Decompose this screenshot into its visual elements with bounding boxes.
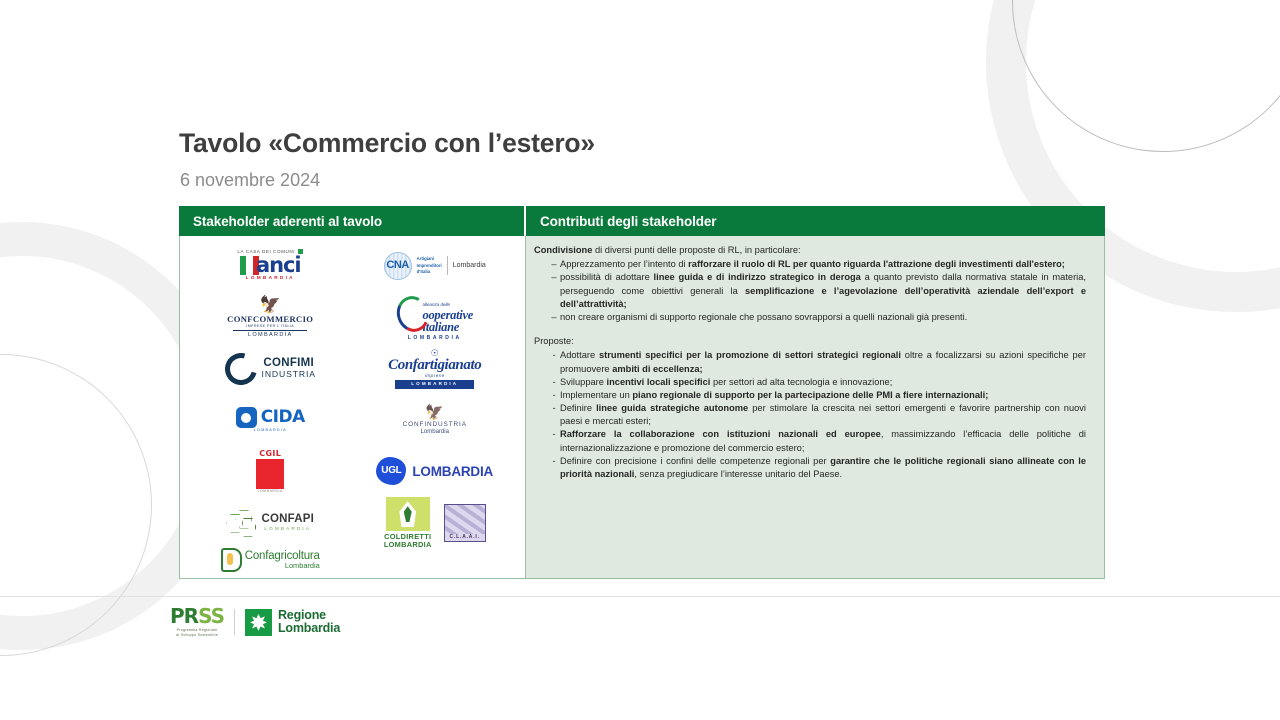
stakeholder-table: Stakeholder aderenti al tavolo Contribut… <box>179 206 1105 579</box>
confcommercio-region-label: LOMBARDIA <box>248 333 293 339</box>
confartigianato-region-label: LOMBARDIA <box>395 380 474 389</box>
logo-grid: LA CASA DEI COMUNI anci LOMBARDIA CNA Ar… <box>180 236 525 578</box>
confapi-lombardia-logo: CONFAPI LOMBARDIA <box>226 512 314 534</box>
table-header-row: Stakeholder aderenti al tavolo Contribut… <box>179 206 1105 236</box>
confimi-industria-logo: CONFIMI INDUSTRIA <box>225 353 316 385</box>
prss-wordmark-b: SS <box>198 606 224 626</box>
table-header-contributions: Contributi degli stakeholder <box>526 206 1105 236</box>
decorative-arc-thin-top-right <box>1012 0 1280 152</box>
coldiretti-region-label: LOMBARDIA <box>384 541 432 548</box>
list-item-text: Adottare strumenti specifici per la prom… <box>560 349 1092 375</box>
cgil-wordmark: CGIL <box>259 450 281 458</box>
footer-logo-divider <box>234 609 235 635</box>
list-bullet-dash: - <box>532 428 560 454</box>
list-item-text: Definire con precisione i confini delle … <box>560 455 1092 481</box>
contributions-text: Condivisione di diversi punti delle prop… <box>532 244 1092 481</box>
ugl-region-label: LOMBARDIA <box>412 465 493 479</box>
regione-label-line2: Lombardia <box>278 622 340 636</box>
alleanza-cooperative-italiane-logo: alleanza delle ooperative italiane LOMBA… <box>397 294 473 341</box>
list-item-text: Implementare un piano regionale di suppo… <box>560 389 1092 402</box>
cida-region-label: LOMBARDIA <box>254 429 287 433</box>
contribution-list-item: –Apprezzamento per l’intento di rafforza… <box>532 258 1092 271</box>
page-subtitle-date: 6 novembre 2024 <box>180 170 320 191</box>
regione-lombardia-logo: Regione Lombardia <box>245 609 340 636</box>
ugl-lombardia-logo: UGL LOMBARDIA <box>376 457 493 485</box>
contribution-list-item: -Implementare un piano regionale di supp… <box>532 389 1092 402</box>
prss-subtitle-line1: Programma Regionale <box>177 628 218 632</box>
confindustria-lombardia-logo: 🦅 CONFINDUSTRIA Lombardia <box>403 405 467 435</box>
confcommercio-wordmark: CONFCOMMERCIO <box>227 315 313 324</box>
c-shape-icon <box>219 347 263 391</box>
coop-word-2: italiane <box>423 322 473 334</box>
cgil-region-label: LOMBARDIA <box>258 490 283 493</box>
confapi-wordmark: CONFAPI <box>261 514 314 526</box>
list-bullet-dash: - <box>532 349 560 375</box>
anci-lombardia-logo: LA CASA DEI COMUNI anci LOMBARDIA <box>237 249 303 282</box>
contribution-list-item: -Rafforzare la collaborazione con istitu… <box>532 428 1092 454</box>
confindustria-wordmark: CONFINDUSTRIA <box>403 422 467 428</box>
rosa-camuna-icon <box>250 614 267 631</box>
confartigianato-imprese-logo: ☉ Confartigianato imprese LOMBARDIA <box>388 349 481 389</box>
list-item-text: Apprezzamento per l’intento di rafforzar… <box>560 258 1092 271</box>
confapi-region-label: LOMBARDIA <box>261 527 314 532</box>
hexagons-icon <box>226 512 256 534</box>
list-item-text: Sviluppare incentivi locali specifici pe… <box>560 376 1092 389</box>
list-item-text: possibilità di adottare linee guida e di… <box>560 271 1092 311</box>
list-bullet-dash: – <box>532 311 560 324</box>
contribution-list-item: -Sviluppare incentivi locali specifici p… <box>532 376 1092 389</box>
list-item-text: non creare organismi di supporto regiona… <box>560 311 1092 324</box>
list-bullet-dash: – <box>532 271 560 311</box>
regione-lombardia-mark <box>245 609 272 636</box>
confagricoltura-lombardia-logo: Confagricoltura Lombardia <box>221 548 320 572</box>
anci-region-label: LOMBARDIA <box>246 277 295 282</box>
confimi-subword: INDUSTRIA <box>262 369 316 379</box>
cna-tagline: ArtigianiImprenditorid'Italia <box>417 256 442 275</box>
list-bullet-dash: - <box>532 402 560 428</box>
list-bullet-dash: – <box>532 258 560 271</box>
list-bullet-dash: - <box>532 455 560 481</box>
contribution-list-item: -Definire linee guida strategiche autono… <box>532 402 1092 428</box>
prss-logo: PRSS Programma Regionale di Sviluppo Sos… <box>170 606 224 639</box>
cna-wordmark: CNA <box>386 260 409 271</box>
contributions-cell: Condivisione di diversi punti delle prop… <box>526 236 1104 578</box>
anci-wordmark: anci <box>256 255 300 276</box>
list-item-text: Rafforzare la collaborazione con istituz… <box>560 428 1092 454</box>
table-body-row: LA CASA DEI COMUNI anci LOMBARDIA CNA Ar… <box>179 236 1105 579</box>
cida-wordmark: CIDA <box>261 409 305 426</box>
contribution-list-item: -Definire con precisione i confini delle… <box>532 455 1092 481</box>
claai-wordmark: C.L.A.A.I. <box>445 534 485 541</box>
table-header-stakeholders: Stakeholder aderenti al tavolo <box>179 206 526 236</box>
coldiretti-and-claai-logos: COLDIRETTI LOMBARDIA C.L.A.A.I. <box>384 497 486 548</box>
confindustria-region-label: Lombardia <box>421 429 449 435</box>
list-bullet-dash: - <box>532 376 560 389</box>
coldiretti-leaf-icon <box>386 497 430 531</box>
globe-icon: CNA <box>384 252 412 280</box>
prss-wordmark-a: PR <box>170 606 198 626</box>
slide-canvas: Tavolo «Commercio con l’estero» 6 novemb… <box>0 0 1280 720</box>
list-bullet-dash: - <box>532 389 560 402</box>
divider <box>233 330 307 331</box>
confartigianato-subword: imprese <box>425 374 445 378</box>
gear-icon <box>236 407 257 428</box>
confartigianato-wordmark: Confartigianato <box>388 358 481 373</box>
page-title: Tavolo «Commercio con l’estero» <box>179 128 595 159</box>
coldiretti-lombardia-logo: COLDIRETTI LOMBARDIA <box>384 497 432 548</box>
cna-divider <box>447 256 448 275</box>
paragraph-spacer <box>532 324 1092 335</box>
list-item-text: Definire linee guida strategiche autonom… <box>560 402 1092 428</box>
contribution-list-item: –possibilità di adottare linee guida e d… <box>532 271 1092 311</box>
confimi-wordmark: CONFIMI <box>262 358 316 370</box>
cna-region-label: Lombardia <box>453 262 486 269</box>
contribution-lead: Condivisione di diversi punti delle prop… <box>534 244 1092 257</box>
ugl-blob-icon: UGL <box>376 457 406 485</box>
cgil-lombardia-logo: CGIL LOMBARDIA <box>256 450 284 494</box>
contribution-lead: Proposte: <box>534 335 1092 348</box>
eagle-icon: 🦅 <box>260 296 281 313</box>
footer-logos: PRSS Programma Regionale di Sviluppo Sos… <box>170 606 340 639</box>
claai-logo: C.L.A.A.I. <box>444 504 486 542</box>
confcommercio-tagline: IMPRESE PER L'ITALIA <box>246 325 294 329</box>
regione-label-line1: Regione <box>278 609 340 623</box>
decorative-arc-thin-bottom-left <box>0 354 152 656</box>
corn-icon <box>221 548 242 572</box>
cna-lombardia-logo: CNA ArtigianiImprenditorid'Italia Lombar… <box>384 252 486 280</box>
contribution-list-item: –non creare organismi di supporto region… <box>532 311 1092 324</box>
confcommercio-lombardia-logo: 🦅 CONFCOMMERCIO IMPRESE PER L'ITALIA LOM… <box>227 296 313 338</box>
eagle-icon: 🦅 <box>425 405 444 420</box>
coop-region-label: LOMBARDIA <box>408 336 462 341</box>
confagricoltura-region-label: Lombardia <box>245 562 320 569</box>
contribution-list-item: -Adottare strumenti specifici per la pro… <box>532 349 1092 375</box>
cida-lombardia-logo: CIDA LOMBARDIA <box>236 407 305 433</box>
footer-divider <box>0 596 1280 597</box>
prss-subtitle-line2: di Sviluppo Sostenibile <box>176 633 218 637</box>
stakeholder-logos-cell: LA CASA DEI COMUNI anci LOMBARDIA CNA Ar… <box>180 236 526 578</box>
cgil-red-square-icon <box>256 459 284 489</box>
